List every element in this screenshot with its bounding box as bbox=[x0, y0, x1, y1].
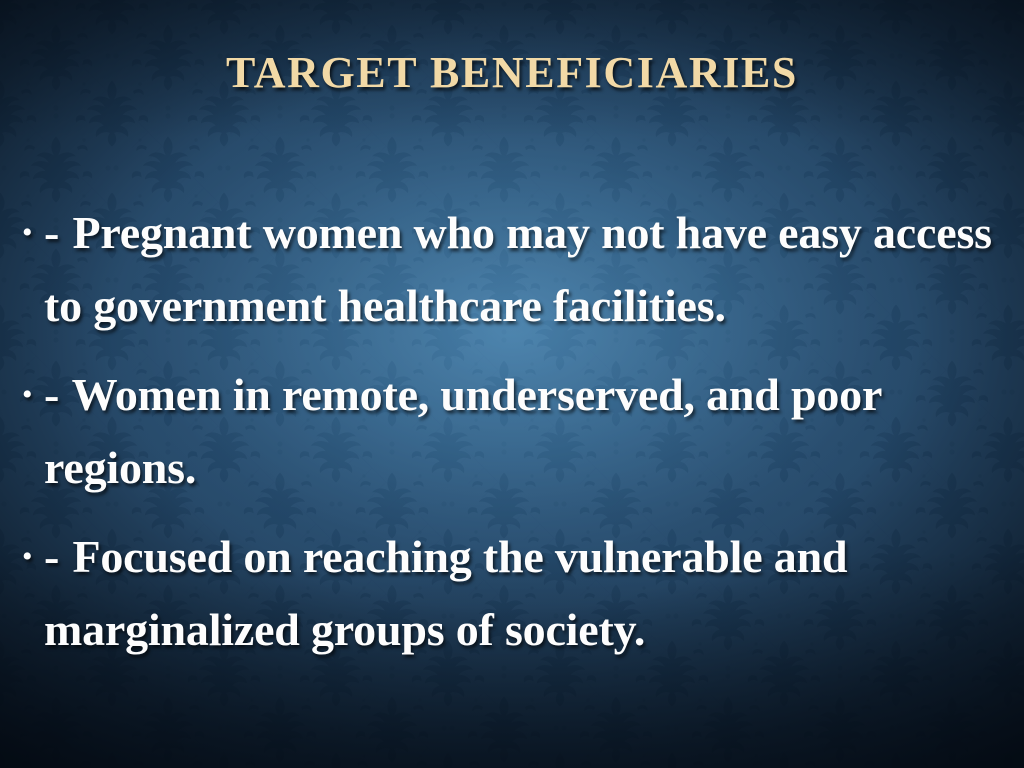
bullet-dash: - bbox=[44, 369, 59, 420]
list-item: • - Women in remote, underserved, and po… bbox=[22, 358, 1012, 504]
bullet-dot-icon: • bbox=[22, 196, 44, 269]
list-item: • - Pregnant women who may not have easy… bbox=[22, 196, 1012, 342]
bullet-text: - Focused on reaching the vulnerable and… bbox=[44, 520, 1012, 666]
bullet-dash: - bbox=[44, 207, 59, 258]
list-item: • - Focused on reaching the vulnerable a… bbox=[22, 520, 1012, 666]
bullet-body: Women in remote, underserved, and poor r… bbox=[44, 369, 881, 493]
bullet-body: Pregnant women who may not have easy acc… bbox=[44, 207, 992, 331]
bullet-list: • - Pregnant women who may not have easy… bbox=[22, 196, 1012, 682]
bullet-dot-icon: • bbox=[22, 520, 44, 593]
bullet-text: - Pregnant women who may not have easy a… bbox=[44, 196, 1012, 342]
bullet-dot-icon: • bbox=[22, 358, 44, 431]
bullet-text: - Women in remote, underserved, and poor… bbox=[44, 358, 1012, 504]
presentation-slide: Target Beneficiaries • - Pregnant women … bbox=[0, 0, 1024, 768]
bullet-dash: - bbox=[44, 531, 59, 582]
slide-title: Target Beneficiaries bbox=[0, 47, 1024, 99]
bullet-body: Focused on reaching the vulnerable and m… bbox=[44, 531, 847, 655]
